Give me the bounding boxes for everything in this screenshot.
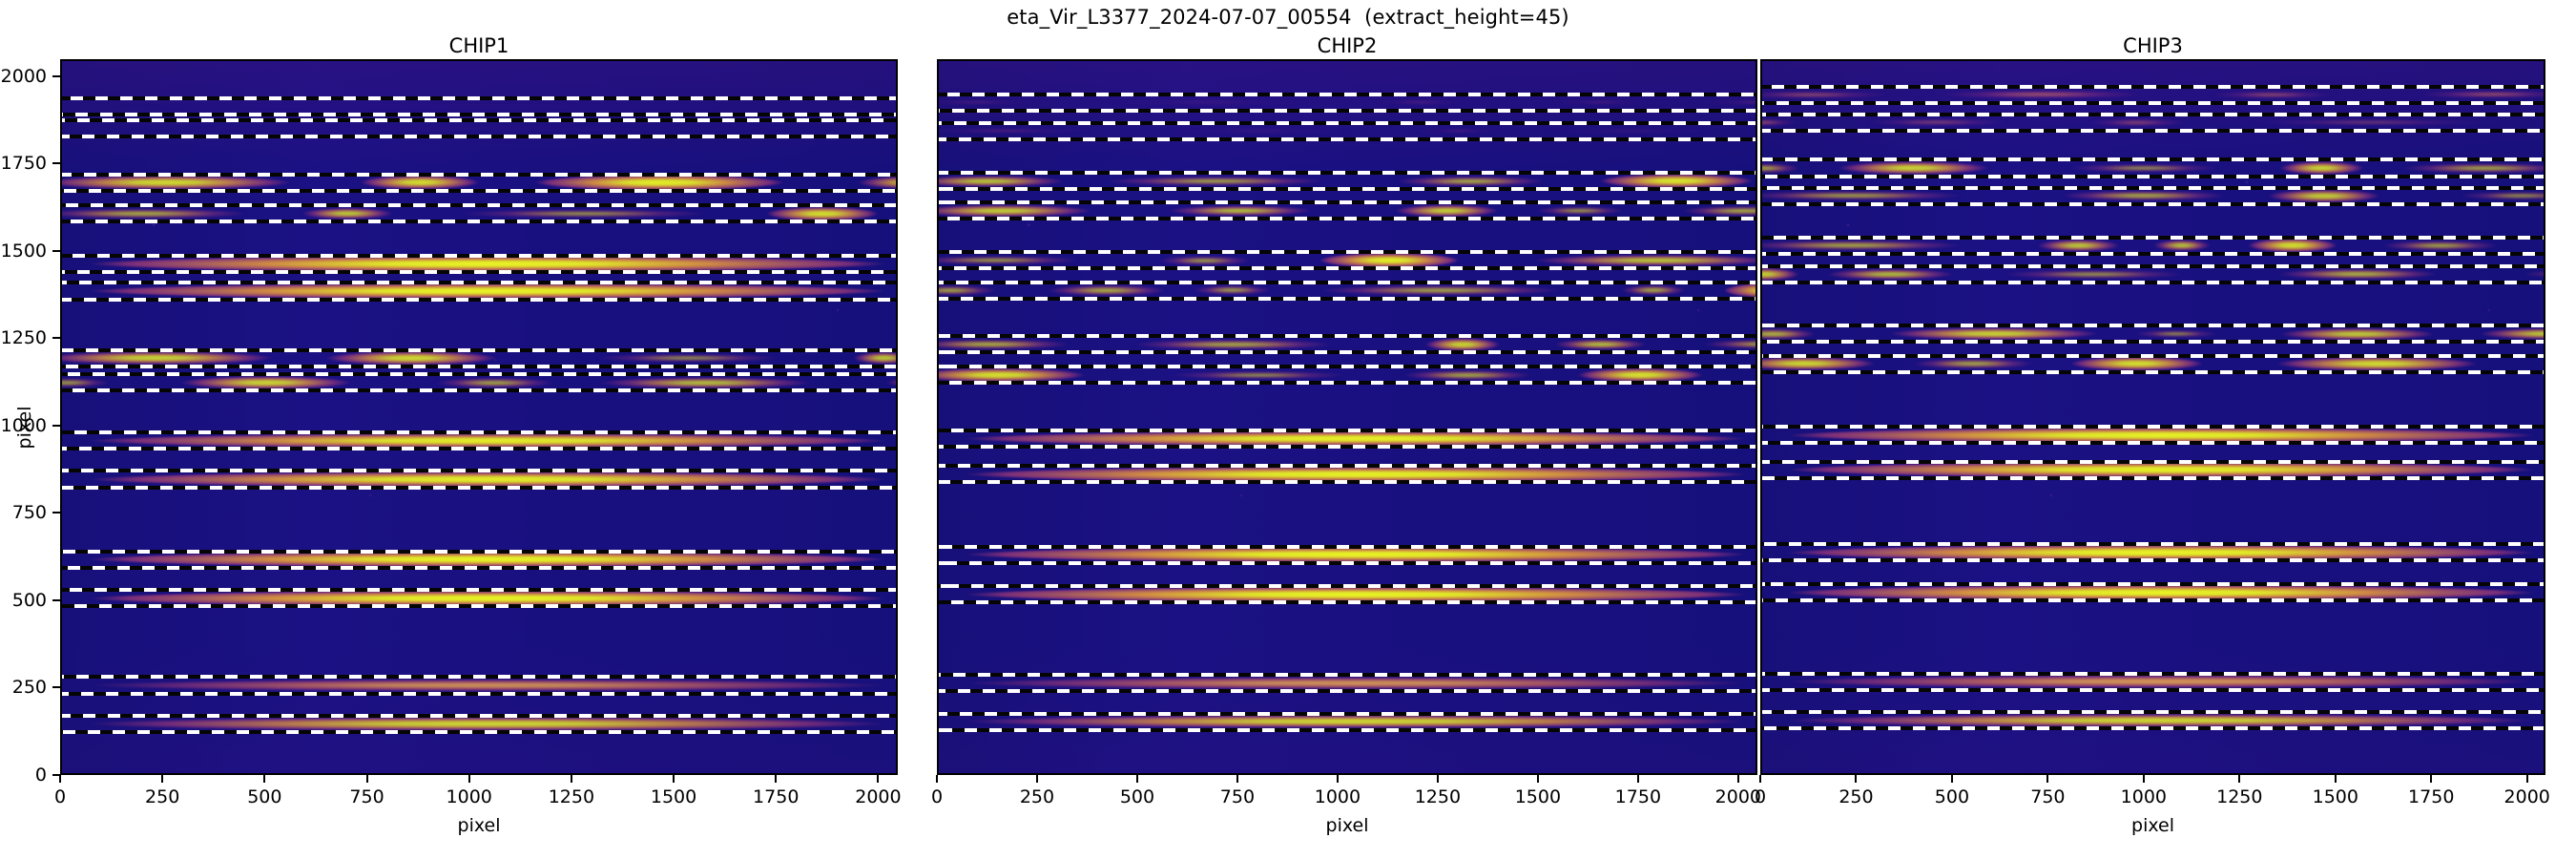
aperture-upper-limit <box>60 675 898 679</box>
y-axis-tick <box>52 250 60 252</box>
order-trace-segment <box>60 207 265 220</box>
order-trace-segment <box>2201 90 2343 98</box>
aperture-lower-limit <box>1760 441 2545 445</box>
x-axis-tick-label: 2000 <box>2504 786 2550 807</box>
aperture-upper-limit <box>937 673 1757 677</box>
order-trace-segment <box>1512 253 1757 267</box>
x-axis-tick-label: 750 <box>2030 786 2065 807</box>
order-trace-segment <box>2515 269 2545 279</box>
detector-image-chip1 <box>62 61 896 773</box>
order-trace-segment <box>2046 190 2239 202</box>
order-trace-segment <box>1298 284 1583 297</box>
x-axis-tick <box>1337 775 1339 783</box>
x-axis-tick-label: 1500 <box>1515 786 1561 807</box>
aperture-lower-limit <box>937 350 1757 354</box>
aperture-upper-limit <box>60 372 898 376</box>
aperture-lower-limit <box>937 266 1757 270</box>
aperture-lower-limit <box>60 113 898 116</box>
aperture-upper-limit <box>937 200 1757 204</box>
x-axis-tick-label: 0 <box>931 786 943 807</box>
x-axis-tick-label: 500 <box>1935 786 1969 807</box>
order-trace-segment <box>1087 175 1345 186</box>
x-axis-tick <box>2526 775 2528 783</box>
aperture-lower-limit <box>1760 281 2545 284</box>
order-trace-segment <box>2233 119 2508 127</box>
x-axis-tick-label: 500 <box>1120 786 1154 807</box>
panel-title-chip3: CHIP3 <box>1760 34 2545 57</box>
y-axis-tick-label: 250 <box>0 677 47 698</box>
order-trace-segment <box>2079 118 2194 127</box>
x-axis-tick-label: 1500 <box>2313 786 2358 807</box>
aperture-lower-limit <box>937 217 1757 220</box>
aperture-upper-limit <box>937 171 1757 175</box>
x-axis-tick <box>2046 775 2048 783</box>
aperture-upper-limit <box>1760 542 2545 546</box>
y-axis-tick <box>52 75 60 77</box>
aperture-upper-limit <box>1760 710 2545 714</box>
order-trace-segment <box>1525 128 1737 135</box>
order-trace-segment <box>937 99 1054 106</box>
aperture-upper-limit <box>1760 85 2545 89</box>
order-trace-segment <box>1156 369 1361 380</box>
aperture-lower-limit <box>60 135 898 138</box>
aperture-lower-limit <box>60 298 898 302</box>
order-trace-segment <box>1923 90 2160 100</box>
order-trace-segment <box>1853 118 2021 127</box>
order-trace-segment <box>2372 240 2509 251</box>
x-axis-tick <box>1759 775 1761 783</box>
y-axis-tick-label: 2000 <box>0 66 47 87</box>
order-trace-segment <box>1383 175 1558 187</box>
order-trace-segment <box>1151 255 1258 266</box>
aperture-lower-limit <box>60 486 898 490</box>
aperture-lower-limit <box>937 109 1757 113</box>
x-axis-tick <box>59 775 61 783</box>
order-trace-segment <box>1672 204 1757 217</box>
aperture-upper-limit <box>937 545 1757 549</box>
order-trace-segment <box>2468 326 2545 342</box>
aperture-upper-limit <box>1760 672 2545 676</box>
x-axis-tick-label: 1500 <box>651 786 696 807</box>
order-trace-segment <box>1187 284 1278 296</box>
x-axis-tick <box>2335 775 2337 783</box>
aperture-upper-limit <box>1760 264 2545 268</box>
order-trace-segment <box>2387 162 2545 175</box>
aperture-lower-limit <box>1760 476 2545 480</box>
x-axis-tick <box>2143 775 2145 783</box>
aperture-lower-limit <box>937 689 1757 693</box>
detector-image-chip2 <box>939 61 1755 773</box>
order-trace-segment <box>937 255 1094 266</box>
order-trace-segment <box>294 206 401 221</box>
y-axis-tick <box>52 425 60 427</box>
figure-suptitle: eta_Vir_L3377_2024-07-07_00554 (extract_… <box>0 6 2576 29</box>
aperture-upper-limit <box>1760 460 2545 464</box>
aperture-lower-limit <box>937 600 1757 604</box>
order-trace-segment <box>2149 239 2216 253</box>
order-trace-segment <box>580 376 830 390</box>
aperture-upper-limit <box>60 550 898 554</box>
aperture-lower-limit <box>60 220 898 223</box>
order-trace-segment <box>2030 239 2127 254</box>
y-axis-tick <box>52 337 60 339</box>
y-axis-tick-label: 1500 <box>0 241 47 262</box>
aperture-upper-limit <box>1760 354 2545 358</box>
order-trace-segment <box>1615 284 1692 297</box>
x-axis-tick-label: 1750 <box>753 786 799 807</box>
order-trace-segment <box>937 284 1005 296</box>
x-axis-tick-label: 1000 <box>2121 786 2167 807</box>
x-axis-tick <box>1036 775 1038 783</box>
order-trace-segment <box>1684 99 1757 106</box>
aperture-lower-limit <box>937 137 1757 141</box>
x-axis-tick-label: 2000 <box>855 786 901 807</box>
aperture-lower-limit <box>1760 688 2545 692</box>
aperture-lower-limit <box>937 445 1757 449</box>
x-axis-tick-label: 1250 <box>549 786 594 807</box>
aperture-lower-limit <box>1760 202 2545 206</box>
order-trace-segment <box>2536 358 2545 370</box>
aperture-upper-limit <box>937 250 1757 254</box>
detector-noise <box>939 61 1755 773</box>
aperture-lower-limit <box>60 692 898 696</box>
heatmap-panel-chip1[interactable] <box>60 59 898 775</box>
order-trace-segment <box>937 338 1083 350</box>
x-axis-tick-label: 250 <box>1020 786 1054 807</box>
aperture-lower-limit <box>937 728 1757 732</box>
order-trace-segment <box>426 377 564 389</box>
aperture-upper-limit <box>60 348 898 352</box>
x-axis-tick <box>1637 775 1639 783</box>
aperture-lower-limit <box>60 447 898 450</box>
aperture-lower-limit <box>60 604 898 608</box>
x-axis-tick <box>1951 775 1953 783</box>
aperture-upper-limit <box>60 96 898 100</box>
aperture-lower-limit <box>1760 252 2545 256</box>
order-trace-segment <box>2406 90 2545 99</box>
x-axis-tick-label: 1250 <box>2216 786 2262 807</box>
aperture-lower-limit <box>937 480 1757 484</box>
x-axis-label: pixel <box>1760 815 2545 836</box>
heatmap-panel-chip2[interactable] <box>937 59 1757 775</box>
aperture-upper-limit <box>937 365 1757 368</box>
aperture-upper-limit <box>937 429 1757 432</box>
order-trace-segment <box>1528 205 1632 216</box>
order-trace-segment <box>60 103 898 110</box>
aperture-upper-limit <box>60 118 898 122</box>
y-axis-tick <box>52 599 60 601</box>
x-axis-tick <box>1136 775 1138 783</box>
aperture-upper-limit <box>60 714 898 718</box>
order-trace-segment <box>1902 358 2044 370</box>
x-axis-tick-label: 0 <box>1755 786 1766 807</box>
order-trace-segment <box>2128 328 2225 338</box>
aperture-upper-limit <box>937 281 1757 284</box>
aperture-upper-limit <box>60 430 898 434</box>
order-trace-segment <box>2448 191 2545 201</box>
order-trace-segment <box>1116 338 1350 350</box>
panel-title-chip1: CHIP1 <box>60 34 898 57</box>
y-axis-tick <box>52 512 60 513</box>
order-trace-segment <box>2057 163 2232 174</box>
order-trace-segment <box>1392 368 1544 381</box>
order-trace-segment <box>848 350 898 366</box>
x-axis-tick <box>571 775 572 783</box>
x-axis-tick-label: 1000 <box>447 786 492 807</box>
x-axis-tick <box>2430 775 2432 783</box>
y-axis-tick <box>52 686 60 688</box>
x-axis-tick <box>936 775 938 783</box>
aperture-upper-limit <box>937 584 1757 588</box>
order-trace-segment <box>879 376 898 390</box>
x-axis-tick-label: 0 <box>54 786 66 807</box>
aperture-lower-limit <box>1760 558 2545 562</box>
aperture-lower-limit <box>60 365 898 368</box>
x-axis-tick-label: 750 <box>349 786 384 807</box>
aperture-lower-limit <box>1760 129 2545 133</box>
order-trace-segment <box>60 377 116 388</box>
aperture-upper-limit <box>1760 186 2545 190</box>
aperture-upper-limit <box>937 93 1757 96</box>
aperture-lower-limit <box>1760 175 2545 178</box>
x-axis-tick <box>468 775 470 783</box>
order-trace-segment <box>1547 337 1654 350</box>
x-axis-tick <box>366 775 368 783</box>
x-axis-tick-label: 750 <box>1220 786 1255 807</box>
panel-title-chip2: CHIP2 <box>937 34 1757 57</box>
aperture-lower-limit <box>60 388 898 392</box>
aperture-upper-limit <box>60 469 898 472</box>
x-axis-tick <box>673 775 675 783</box>
order-trace-segment <box>1760 190 1983 201</box>
x-axis-label: pixel <box>937 815 1757 836</box>
aperture-upper-limit <box>1760 157 2545 161</box>
x-axis-tick <box>161 775 163 783</box>
aperture-lower-limit <box>1760 370 2545 374</box>
aperture-upper-limit <box>1760 236 2545 240</box>
x-axis-tick <box>1537 775 1539 783</box>
order-trace-segment <box>60 125 898 132</box>
order-trace-segment <box>1760 118 1803 128</box>
aperture-upper-limit <box>937 334 1757 338</box>
order-trace-segment <box>1760 240 1981 252</box>
x-axis-tick-label: 250 <box>1839 786 1873 807</box>
x-axis-tick-label: 1000 <box>1315 786 1361 807</box>
y-axis-tick-label: 1250 <box>0 327 47 348</box>
aperture-upper-limit <box>937 464 1757 468</box>
aperture-lower-limit <box>1760 340 2545 344</box>
order-trace-segment <box>1816 267 1963 281</box>
aperture-lower-limit <box>1760 101 2545 105</box>
aperture-lower-limit <box>937 187 1757 191</box>
x-axis-tick-label: 1750 <box>2408 786 2454 807</box>
y-axis-tick-label: 0 <box>0 765 47 786</box>
x-axis-tick <box>2238 775 2240 783</box>
aperture-lower-limit <box>1760 726 2545 730</box>
x-axis-tick <box>877 775 879 783</box>
order-trace-segment <box>580 353 796 364</box>
aperture-upper-limit <box>1760 113 2545 116</box>
detector-noise <box>62 61 896 773</box>
x-axis-tick <box>1737 775 1739 783</box>
y-axis-tick <box>52 162 60 164</box>
matplotlib-figure: eta_Vir_L3377_2024-07-07_00554 (extract_… <box>0 0 2576 859</box>
aperture-upper-limit <box>60 281 898 284</box>
y-axis-tick-label: 750 <box>0 502 47 523</box>
aperture-upper-limit <box>1760 324 2545 327</box>
order-trace-segment <box>1364 99 1475 106</box>
aperture-upper-limit <box>60 588 898 592</box>
x-axis-tick <box>263 775 265 783</box>
aperture-lower-limit <box>60 730 898 734</box>
x-axis-tick <box>1437 775 1439 783</box>
aperture-upper-limit <box>1760 425 2545 429</box>
order-trace-segment <box>1693 338 1757 350</box>
order-trace-segment <box>2267 326 2448 342</box>
order-trace-segment <box>1037 284 1176 297</box>
x-axis-label: pixel <box>60 815 898 836</box>
aperture-lower-limit <box>937 381 1757 385</box>
y-axis-tick-label: 1000 <box>0 415 47 436</box>
aperture-upper-limit <box>60 203 898 207</box>
aperture-upper-limit <box>60 254 898 258</box>
order-trace-segment <box>1748 128 1757 135</box>
aperture-lower-limit <box>60 270 898 274</box>
aperture-lower-limit <box>937 297 1757 301</box>
order-trace-segment <box>1760 90 1901 98</box>
order-trace-segment <box>2264 268 2452 282</box>
x-axis-tick <box>775 775 777 783</box>
order-trace-segment <box>438 208 731 219</box>
aperture-lower-limit <box>60 189 898 193</box>
aperture-lower-limit <box>60 566 898 570</box>
aperture-lower-limit <box>1760 598 2545 602</box>
order-trace-segment <box>1405 128 1513 135</box>
order-trace-segment <box>1084 99 1331 106</box>
aperture-lower-limit <box>937 561 1757 565</box>
aperture-upper-limit <box>937 121 1757 125</box>
heatmap-panel-chip3[interactable] <box>1760 59 2545 775</box>
order-trace-segment <box>937 174 1077 188</box>
order-trace-segment <box>1150 128 1370 135</box>
x-axis-tick-label: 1250 <box>1415 786 1461 807</box>
aperture-upper-limit <box>1760 582 2545 586</box>
order-trace-segment <box>1988 269 2199 280</box>
order-trace-segment <box>937 128 1112 135</box>
order-trace-segment <box>1156 204 1322 218</box>
aperture-upper-limit <box>60 173 898 177</box>
detector-image-chip3 <box>1762 61 2544 773</box>
x-axis-tick-label: 1750 <box>1615 786 1661 807</box>
y-axis-tick-label: 500 <box>0 590 47 611</box>
x-axis-tick <box>1236 775 1238 783</box>
x-axis-tick <box>1855 775 1857 783</box>
x-axis-tick-label: 250 <box>145 786 179 807</box>
aperture-upper-limit <box>937 712 1757 716</box>
x-axis-tick-label: 500 <box>247 786 281 807</box>
order-trace-segment <box>1541 99 1661 106</box>
y-axis-tick-label: 1750 <box>0 153 47 174</box>
order-trace-segment <box>1760 162 1806 174</box>
order-trace-segment <box>1760 327 1823 341</box>
